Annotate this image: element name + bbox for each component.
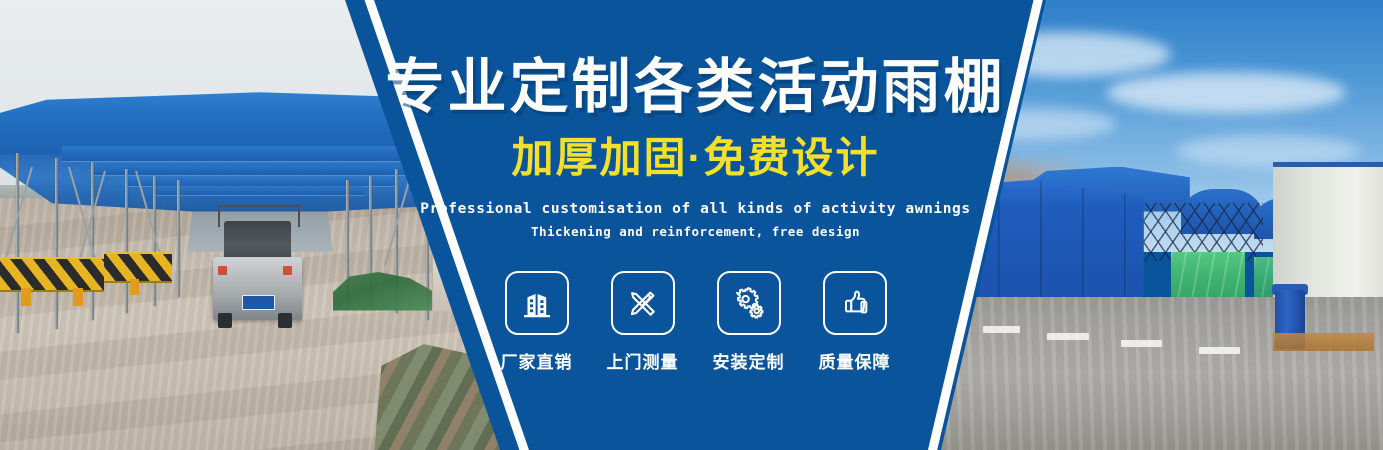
feature-list: 厂家直销 bbox=[501, 271, 891, 373]
left-photo-truck-wheel bbox=[218, 313, 232, 328]
left-photo-truck-taillight bbox=[283, 266, 291, 276]
feature-icon-box bbox=[823, 271, 887, 335]
left-photo-frame-post bbox=[125, 169, 128, 313]
left-photo-frame-post bbox=[16, 153, 19, 333]
right-photo-road-marking bbox=[1199, 347, 1240, 354]
banner-english-tagline-primary: Professional customisation of all kinds … bbox=[420, 201, 970, 217]
left-photo-barrier-leg bbox=[73, 288, 83, 306]
feature-label: 质量保障 bbox=[819, 348, 891, 373]
left-photo-safety-barrier bbox=[0, 257, 104, 293]
building-icon bbox=[520, 286, 554, 320]
feature-item-installation-custom[interactable]: 安装定制 bbox=[713, 271, 785, 373]
feature-item-onsite-measurement[interactable]: 上门测量 bbox=[607, 271, 679, 373]
right-photo-curb-ramp bbox=[1273, 333, 1374, 351]
feature-label: 安装定制 bbox=[713, 348, 785, 373]
feature-icon-box bbox=[505, 271, 569, 335]
left-photo-canopy-bay bbox=[156, 186, 364, 196]
page-title: 专业定制各类活动雨棚 bbox=[385, 58, 1005, 117]
right-photo-cloud bbox=[1107, 72, 1346, 113]
left-photo-truck-cab bbox=[224, 221, 292, 262]
left-photo-truck-taillight bbox=[218, 266, 226, 276]
feature-label: 上门测量 bbox=[607, 348, 679, 373]
gears-icon bbox=[732, 286, 766, 320]
promo-banner: 专业定制各类活动雨棚 加厚加固·免费设计 Professional custom… bbox=[0, 0, 1383, 450]
banner-english-tagline-secondary: Thickening and reinforcement, free desig… bbox=[531, 224, 860, 239]
right-photo-road-marking bbox=[1121, 340, 1162, 347]
feature-item-quality-guarantee[interactable]: 质量保障 bbox=[819, 271, 891, 373]
banner-content: 专业定制各类活动雨棚 加厚加固·免费设计 Professional custom… bbox=[345, 0, 1046, 450]
right-photo-road-marking bbox=[1047, 333, 1088, 340]
ruler-pencil-icon bbox=[626, 286, 660, 320]
feature-item-factory-direct[interactable]: 厂家直销 bbox=[501, 271, 573, 373]
left-photo-barrier-leg bbox=[130, 279, 139, 295]
left-photo-frame-post bbox=[177, 180, 180, 297]
left-photo-frame-post bbox=[55, 158, 58, 329]
left-photo-barrier-leg bbox=[21, 288, 31, 306]
left-photo-truck-licence-plate bbox=[242, 295, 275, 311]
feature-icon-box bbox=[717, 271, 781, 335]
feature-label: 厂家直销 bbox=[501, 348, 573, 373]
banner-subtitle: 加厚加固·免费设计 bbox=[512, 137, 880, 179]
feature-icon-box bbox=[611, 271, 675, 335]
thumbs-up-icon bbox=[838, 286, 872, 320]
left-photo-truck-wheel bbox=[278, 313, 292, 328]
